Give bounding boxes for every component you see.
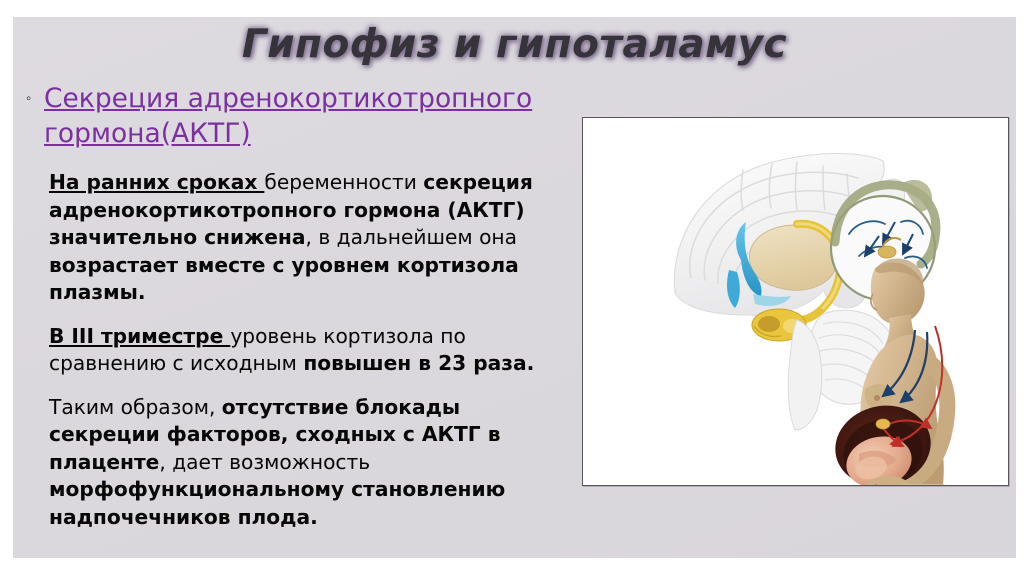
- bullet-list-item: ◦ Секреция адренокортикотропного гормона…: [23, 81, 571, 151]
- paragraph-third-trimester: В III триместре уровень кортизола по сра…: [23, 323, 571, 378]
- text-run-0: Таким образом,: [49, 395, 222, 419]
- content-text-column: ◦ Секреция адренокортикотропного гормона…: [23, 81, 571, 531]
- page-title: Гипофиз и гипоталамус: [13, 22, 1016, 67]
- figure-frame: [582, 117, 1009, 486]
- text-run-1: беременности: [264, 170, 423, 194]
- page-title-text: Гипофиз и гипоталамус: [242, 22, 787, 67]
- text-run-2: , дает возможность: [159, 450, 370, 474]
- placenta-marker: [876, 419, 890, 429]
- paragraph-early-pregnancy: На ранних сроках беременности секреция а…: [23, 169, 571, 307]
- text-run-4: возрастает вместе с уровнем кортизола пл…: [49, 253, 519, 305]
- text-run-2: повышен в 23 раза.: [303, 351, 534, 375]
- slide-canvas: Гипофиз и гипоталамус ◦ Секреция адренок…: [13, 17, 1016, 558]
- text-run-3: морфофункциональному становлению надпоче…: [49, 477, 505, 529]
- text-run-0: На ранних сроках: [49, 170, 264, 194]
- bullet-circle-icon: ◦: [23, 81, 44, 117]
- paragraph-conclusion: Таким образом, отсутствие блокады секрец…: [23, 394, 571, 532]
- text-run-0: В III триместре: [49, 324, 230, 348]
- text-run-3: , в дальнейшем она: [306, 225, 517, 249]
- bullet-item-link[interactable]: Секреция адренокортикотропного гормона(А…: [44, 81, 571, 151]
- brain-sagittal-and-pregnant-woman-illustration: [583, 118, 1008, 485]
